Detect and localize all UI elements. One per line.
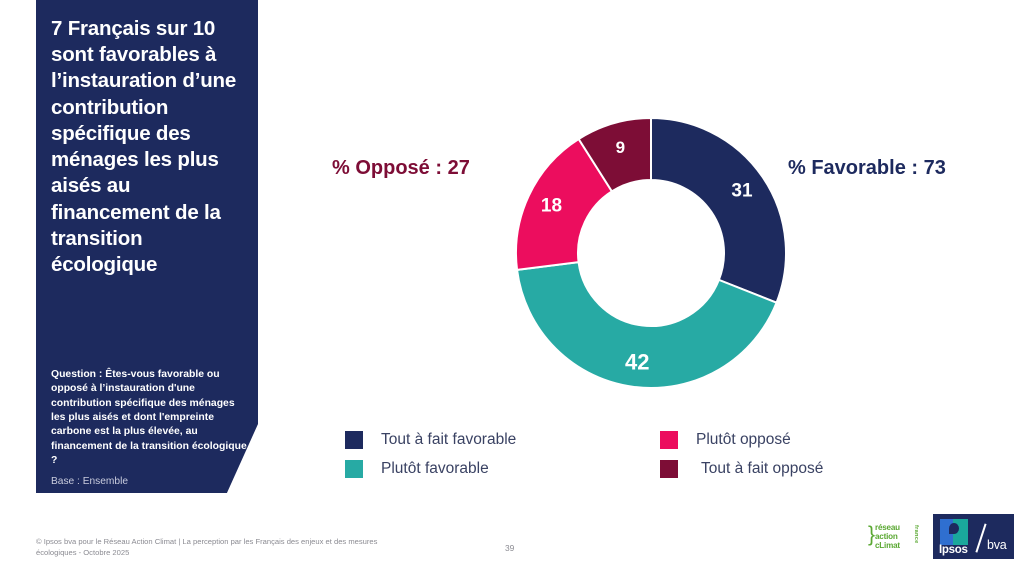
survey-question-text: Question : Êtes-vous favorable ou opposé… — [51, 368, 247, 469]
rac-line-2: action — [875, 532, 900, 541]
donut-slices — [516, 118, 786, 388]
chart-area: % Opposé : 27 % Favorable : 73 3142189 — [300, 95, 1024, 425]
total-favorable-label: % Favorable : 73 — [788, 157, 946, 180]
legend-column-favorable: Tout à fait favorable Plutôt favorable — [345, 425, 516, 483]
rac-line-1: réseau — [875, 523, 900, 532]
total-oppose-label: % Opposé : 27 — [332, 157, 470, 180]
bracket-icon: } — [868, 524, 875, 545]
donut-slice-value: 42 — [625, 350, 649, 375]
callout-headline: 7 Français sur 10 sont favorables à l’in… — [51, 16, 240, 278]
legend-swatch-icon — [345, 460, 363, 478]
legend-label: Plutôt favorable — [381, 460, 489, 478]
chart-legend: Tout à fait favorable Plutôt favorable P… — [345, 425, 905, 491]
ipsos-bva-logo: Ipsos bva — [933, 514, 1014, 559]
legend-item-tout-a-fait-oppose[interactable]: Tout à fait opposé — [660, 454, 823, 483]
bva-wordmark: bva — [987, 538, 1007, 552]
legend-label: Tout à fait opposé — [701, 460, 823, 478]
donut-chart-svg: 3142189 — [515, 117, 787, 389]
legend-label: Tout à fait favorable — [381, 431, 516, 449]
legend-column-oppose: Plutôt opposé Tout à fait opposé — [660, 425, 823, 483]
ipsos-mark-dot — [949, 523, 959, 534]
ipsos-mark-icon — [940, 519, 968, 545]
donut-slice-value: 18 — [541, 196, 562, 217]
donut-chart: 3142189 — [515, 117, 787, 389]
ipsos-wordmark: Ipsos — [939, 544, 968, 556]
legend-swatch-icon — [660, 431, 678, 449]
donut-slice — [651, 118, 786, 303]
rac-logo-france: france — [913, 525, 919, 544]
legend-item-tout-a-fait-favorable[interactable]: Tout à fait favorable — [345, 425, 516, 454]
reseau-action-climat-logo: } réseau action cLimat france — [868, 519, 926, 553]
legend-swatch-icon — [345, 431, 363, 449]
donut-slice-value: 9 — [616, 138, 625, 157]
legend-swatch-icon — [660, 460, 678, 478]
footer-credit: © Ipsos bva pour le Réseau Action Climat… — [36, 536, 416, 558]
page-number: 39 — [505, 543, 514, 553]
legend-item-plutot-oppose[interactable]: Plutôt opposé — [660, 425, 823, 454]
survey-base-text: Base : Ensemble — [51, 475, 128, 488]
ipsos-divider — [975, 523, 986, 552]
callout-panel: 7 Français sur 10 sont favorables à l’in… — [36, 0, 258, 493]
rac-logo-text: réseau action cLimat — [875, 523, 900, 550]
legend-label: Plutôt opposé — [696, 431, 791, 449]
donut-slice-value: 31 — [731, 181, 753, 202]
legend-item-plutot-favorable[interactable]: Plutôt favorable — [345, 454, 516, 483]
rac-line-3: cLimat — [875, 541, 900, 550]
